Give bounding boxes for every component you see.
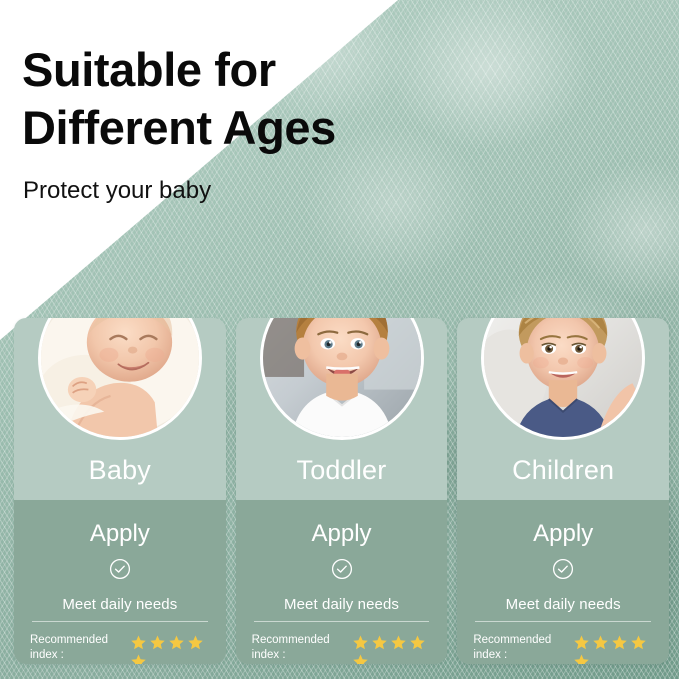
recommended-index-label: Recommended index :	[252, 633, 346, 663]
page-subtitle: Protect your baby	[23, 177, 211, 205]
needs-label: Meet daily needs	[236, 596, 448, 613]
age-card-list: Baby Apply Meet daily needs Recommended …	[14, 318, 669, 664]
promo-graphic: Suitable for Different Ages Protect your…	[0, 0, 679, 679]
divider	[32, 621, 208, 622]
toddler-photo	[260, 318, 424, 440]
star-icon	[352, 653, 369, 664]
star-icon	[352, 634, 369, 651]
apply-label: Apply	[236, 520, 448, 548]
star-icon	[573, 634, 590, 651]
needs-label: Meet daily needs	[457, 596, 669, 613]
star-rating	[130, 633, 205, 664]
star-icon	[149, 634, 166, 651]
star-icon	[130, 634, 147, 651]
card-bottom-section: Apply Meet daily needs Recommended index…	[236, 500, 448, 664]
age-label: Baby	[14, 455, 226, 486]
check-circle-icon	[236, 558, 448, 580]
check-circle-icon	[14, 558, 226, 580]
recommended-index-label: Recommended index :	[473, 633, 567, 663]
star-icon	[371, 634, 388, 651]
needs-label: Meet daily needs	[14, 596, 226, 613]
star-icon	[573, 653, 590, 664]
check-circle-icon	[457, 558, 669, 580]
apply-label: Apply	[14, 520, 226, 548]
age-card-children[interactable]: Children Apply Meet daily needs Recommen…	[457, 318, 669, 664]
baby-photo	[38, 318, 202, 440]
divider	[254, 621, 430, 622]
star-icon	[168, 634, 185, 651]
star-icon	[592, 634, 609, 651]
children-photo	[481, 318, 645, 440]
age-card-toddler[interactable]: Toddler Apply Meet daily needs Recommend…	[236, 318, 448, 664]
age-card-baby[interactable]: Baby Apply Meet daily needs Recommended …	[14, 318, 226, 664]
card-bottom-section: Apply Meet daily needs Recommended index…	[457, 500, 669, 664]
recommended-index-row: Recommended index :	[14, 633, 226, 664]
divider	[475, 621, 651, 622]
recommended-index-row: Recommended index :	[457, 633, 669, 664]
apply-label: Apply	[457, 520, 669, 548]
page-title: Suitable for Different Ages	[22, 41, 442, 157]
recommended-index-row: Recommended index :	[236, 633, 448, 664]
age-label: Toddler	[236, 455, 448, 486]
star-rating	[352, 633, 427, 664]
star-icon	[390, 634, 407, 651]
card-bottom-section: Apply Meet daily needs Recommended index…	[14, 500, 226, 664]
card-top-section: Toddler	[236, 318, 448, 500]
star-icon	[630, 634, 647, 651]
card-top-section: Children	[457, 318, 669, 500]
star-icon	[130, 653, 147, 664]
age-label: Children	[457, 455, 669, 486]
recommended-index-label: Recommended index :	[30, 633, 124, 663]
star-icon	[611, 634, 628, 651]
star-icon	[187, 634, 204, 651]
card-top-section: Baby	[14, 318, 226, 500]
star-icon	[409, 634, 426, 651]
star-rating	[573, 633, 648, 664]
